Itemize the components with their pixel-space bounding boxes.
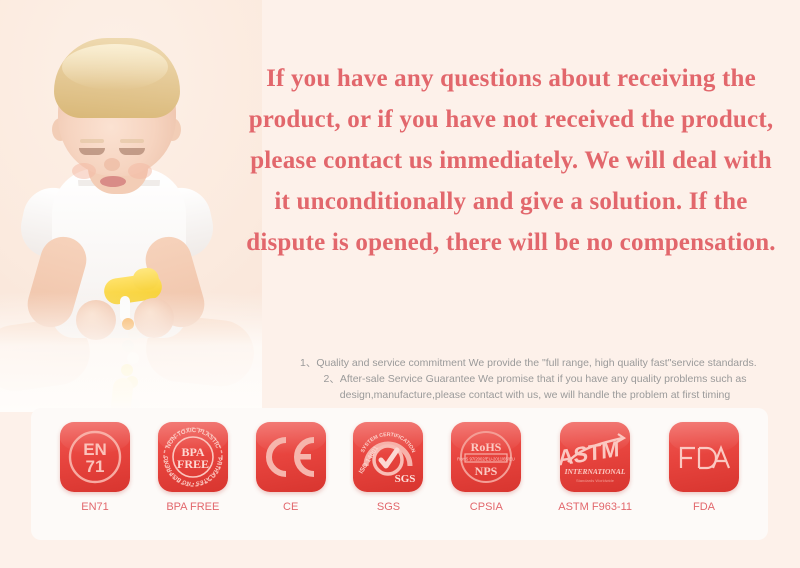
certification-item-bpa-free: NON-TOXIC PLASTIC NO PHTHALATES • NO BIS…: [155, 422, 231, 513]
service-note-line-2: 2、After-sale Service Guarantee We promis…: [292, 371, 778, 387]
svg-text:INTERNATIONAL: INTERNATIONAL: [564, 467, 626, 476]
certification-label: CE: [283, 501, 298, 513]
service-commitment-note: 1、Quality and service commitment We prov…: [292, 355, 778, 403]
baby-hair: [54, 38, 180, 118]
ce-badge: [256, 422, 326, 492]
sgs-badge: SYSTEM CERTIFICATION ISO 14001 SGS: [353, 422, 423, 492]
en71-icon: EN 71: [60, 422, 130, 492]
policy-headline: If you have any questions about receivin…: [246, 58, 776, 263]
bpa-free-icon: NON-TOXIC PLASTIC NO PHTHALATES • NO BIS…: [158, 422, 228, 492]
astm-icon: ASTM INTERNATIONAL Standards Worldwide: [560, 422, 630, 492]
fda-icon: [669, 422, 739, 492]
svg-text:71: 71: [86, 457, 105, 476]
baby-eye-left: [79, 148, 105, 155]
baby-product-photo: [0, 0, 262, 412]
baby-nose: [104, 158, 120, 171]
certification-label: SGS: [377, 501, 400, 513]
baby-cheek-right: [128, 163, 152, 179]
certification-label: FDA: [693, 501, 715, 513]
cpsia-icon: RoHS RoHS 97/2002/EU-2011/65/EU NPS: [451, 422, 521, 492]
svg-text:NPS: NPS: [475, 464, 498, 478]
cpsia-badge: RoHS RoHS 97/2002/EU-2011/65/EU NPS: [451, 422, 521, 492]
certification-item-sgs: SYSTEM CERTIFICATION ISO 14001 SGS SGS: [350, 422, 426, 513]
certification-item-fda: FDA: [666, 422, 742, 513]
sgs-icon: SYSTEM CERTIFICATION ISO 14001 SGS: [353, 422, 423, 492]
baby-brow-left: [80, 139, 104, 143]
certification-item-en71: EN 71 EN71: [57, 422, 133, 513]
baby-brow-right: [120, 139, 144, 143]
astm-badge: ASTM INTERNATIONAL Standards Worldwide: [560, 422, 630, 492]
svg-text:RoHS 97/2002/EU-2011/65/EU: RoHS 97/2002/EU-2011/65/EU: [457, 456, 515, 461]
service-note-line-3: design,manufacture,please contact with u…: [292, 387, 778, 403]
certification-label: BPA FREE: [166, 501, 219, 513]
baby-mouth: [100, 176, 126, 187]
baby-cheek-left: [72, 163, 96, 179]
svg-text:FREE: FREE: [177, 457, 209, 471]
bpa-free-badge: NON-TOXIC PLASTIC NO PHTHALATES • NO BIS…: [158, 422, 228, 492]
en71-badge: EN 71: [60, 422, 130, 492]
certification-panel: EN 71 EN71: [31, 408, 768, 540]
certification-item-astm: ASTM INTERNATIONAL Standards Worldwide A…: [546, 422, 644, 513]
svg-text:RoHS: RoHS: [471, 440, 502, 454]
baby-eye-right: [119, 148, 145, 155]
certification-label: EN71: [81, 501, 109, 513]
product-detail-banner: If you have any questions about receivin…: [0, 0, 800, 568]
service-note-line-1: 1、Quality and service commitment We prov…: [292, 355, 778, 371]
photo-floor-gradient: [0, 292, 262, 412]
certification-row: EN 71 EN71: [31, 408, 768, 540]
certification-item-ce: CE: [253, 422, 329, 513]
certification-label: CPSIA: [470, 501, 503, 513]
svg-text:Standards Worldwide: Standards Worldwide: [576, 478, 615, 483]
svg-text:SGS: SGS: [395, 473, 416, 485]
certification-label: ASTM F963-11: [558, 501, 632, 513]
ce-icon: [256, 422, 326, 492]
certification-item-cpsia: RoHS RoHS 97/2002/EU-2011/65/EU NPS CPSI…: [448, 422, 524, 513]
fda-badge: [669, 422, 739, 492]
